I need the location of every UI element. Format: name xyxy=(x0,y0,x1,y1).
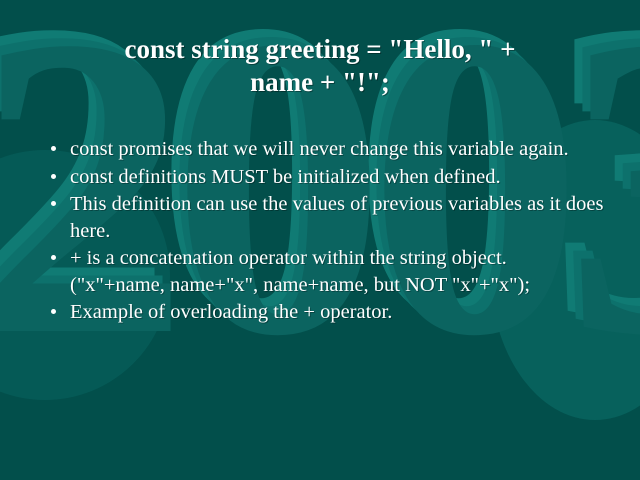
bullet-item: This definition can use the values of pr… xyxy=(44,191,604,244)
bullet-text: const promises that we will never change… xyxy=(70,136,604,163)
bullet-text: + is a concatenation operator within the… xyxy=(70,245,604,298)
bullet-dot-icon xyxy=(51,201,56,206)
bullet-item: + is a concatenation operator within the… xyxy=(44,245,604,298)
bullet-dot-icon xyxy=(51,255,56,260)
bullet-text: Example of overloading the + operator. xyxy=(70,299,604,326)
bullet-text: This definition can use the values of pr… xyxy=(70,191,604,244)
bullet-dot-icon xyxy=(51,309,56,314)
slide-title: const string greeting = "Hello, " + name… xyxy=(34,33,606,99)
bullet-text: const definitions MUST be initialized wh… xyxy=(70,164,604,191)
slide-title-line-1: const string greeting = "Hello, " + xyxy=(125,34,516,64)
bullet-item: const promises that we will never change… xyxy=(44,136,604,163)
bullet-item: Example of overloading the + operator. xyxy=(44,299,604,326)
slide-content: const string greeting = "Hello, " + name… xyxy=(0,0,640,480)
slide-bullet-list: const promises that we will never change… xyxy=(44,136,604,327)
bullet-dot-icon xyxy=(51,174,56,179)
slide-title-line-2: name + "!"; xyxy=(250,67,390,97)
bullet-item: const definitions MUST be initialized wh… xyxy=(44,164,604,191)
presentation-slide: 2003 2003 2003 const string greeting = "… xyxy=(0,0,640,480)
bullet-dot-icon xyxy=(51,146,56,151)
